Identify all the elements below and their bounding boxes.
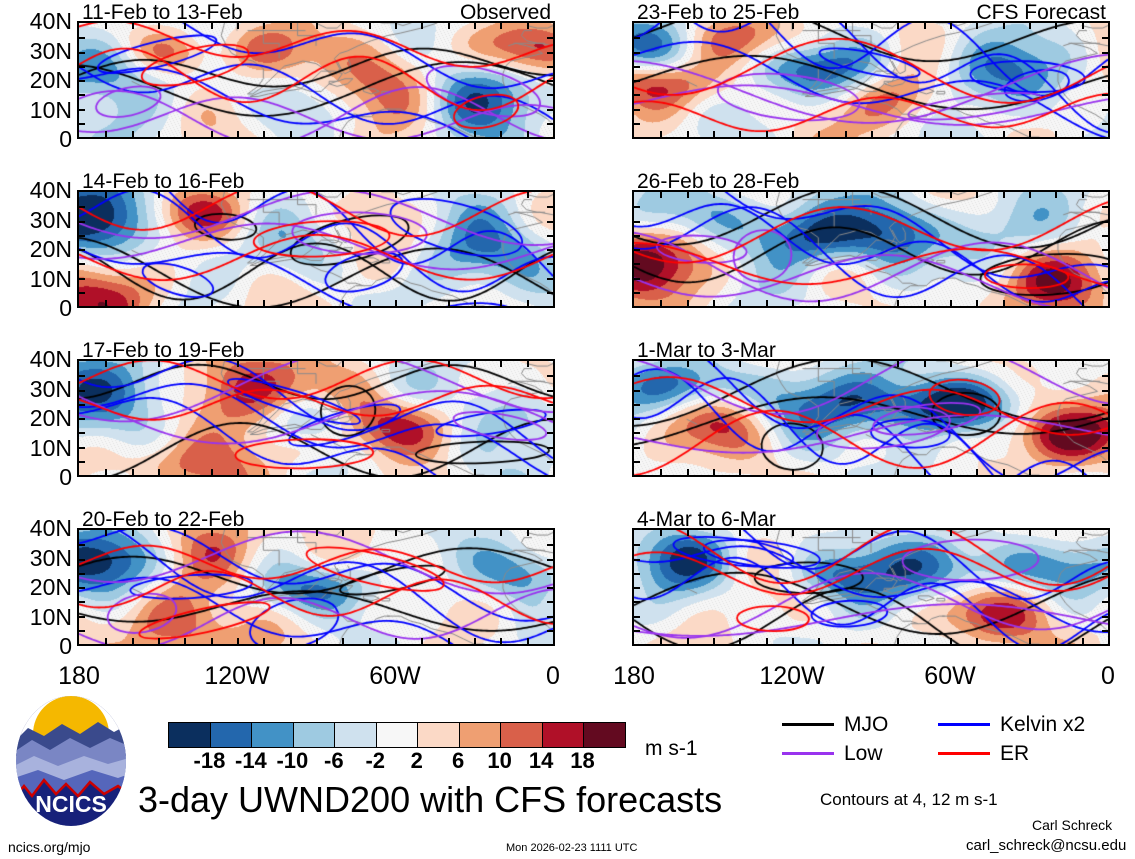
y-tick	[547, 263, 553, 265]
x-tick	[290, 361, 292, 367]
y-tick	[79, 390, 85, 392]
x-tick	[500, 300, 502, 306]
y-tick	[547, 559, 553, 561]
y-tick	[547, 206, 553, 208]
y-tick	[1102, 418, 1108, 420]
x-tick	[237, 192, 239, 198]
x-tick	[792, 300, 794, 306]
colorbar-swatch	[460, 723, 502, 747]
x-tick	[448, 638, 450, 644]
y-tick	[1102, 249, 1108, 251]
x-tick	[1003, 361, 1005, 367]
x-tick	[818, 23, 820, 29]
y-tick	[79, 573, 85, 575]
x-tick	[1029, 300, 1031, 306]
legend-line-swatch	[938, 723, 990, 726]
x-tick	[1082, 469, 1084, 475]
x-tick	[184, 469, 186, 475]
x-tick	[105, 469, 107, 475]
x-tick	[316, 300, 318, 306]
y-tick	[634, 390, 640, 392]
x-tick	[211, 23, 213, 29]
x-tick	[448, 530, 450, 536]
x-tick	[290, 300, 292, 306]
x-tick	[871, 23, 873, 29]
x-tick	[976, 361, 978, 367]
y-tick	[634, 616, 640, 618]
x-tick	[845, 300, 847, 306]
x-tick	[845, 131, 847, 137]
x-tick	[500, 361, 502, 367]
x-tick	[237, 23, 239, 29]
x-tick	[184, 192, 186, 198]
x-tick	[316, 638, 318, 644]
x-tick	[818, 192, 820, 198]
x-tick	[527, 638, 529, 644]
x-tick	[369, 361, 371, 367]
x-tick	[158, 131, 160, 137]
x-tick	[421, 23, 423, 29]
y-tick	[547, 278, 553, 280]
y-tick	[547, 37, 553, 39]
logo-text: NCICS	[35, 791, 107, 817]
x-tick	[184, 300, 186, 306]
x-tick	[766, 638, 768, 644]
x-tick	[1003, 638, 1005, 644]
y-tick	[634, 66, 640, 68]
x-tick	[1029, 23, 1031, 29]
x-tick	[316, 361, 318, 367]
colorbar-swatch	[418, 723, 460, 747]
x-tick	[263, 23, 265, 29]
x-tick	[132, 638, 134, 644]
panel-title: 4-Mar to 6-Mar	[637, 509, 776, 530]
x-tick	[950, 361, 952, 367]
x-tick	[976, 638, 978, 644]
y-tick	[634, 432, 640, 434]
x-tick	[184, 361, 186, 367]
x-tick	[1055, 638, 1057, 644]
x-tick	[766, 469, 768, 475]
x-tick	[105, 361, 107, 367]
x-tick	[976, 300, 978, 306]
y-tick	[547, 418, 553, 420]
x-tick	[924, 300, 926, 306]
x-tick	[158, 361, 160, 367]
y-tick	[547, 573, 553, 575]
x-tick	[132, 131, 134, 137]
y-tick	[79, 206, 85, 208]
y-axis-label: 30N	[0, 40, 72, 63]
y-tick	[1102, 109, 1108, 111]
x-tick	[924, 361, 926, 367]
y-tick	[547, 375, 553, 377]
x-tick	[818, 131, 820, 137]
y-tick	[547, 587, 553, 589]
x-tick	[660, 192, 662, 198]
y-tick	[79, 601, 85, 603]
y-tick	[634, 235, 640, 237]
y-tick	[634, 601, 640, 603]
x-tick	[660, 131, 662, 137]
legend-label: ER	[1000, 743, 1029, 764]
legend-line-swatch	[782, 752, 834, 755]
y-tick	[1102, 235, 1108, 237]
x-tick	[237, 131, 239, 137]
x-tick	[976, 469, 978, 475]
x-tick	[792, 361, 794, 367]
y-tick	[634, 573, 640, 575]
y-tick	[79, 235, 85, 237]
x-tick	[211, 638, 213, 644]
y-tick	[1102, 221, 1108, 223]
colorbar-swatch	[335, 723, 377, 747]
x-tick	[1082, 131, 1084, 137]
x-tick	[792, 131, 794, 137]
y-tick	[547, 544, 553, 546]
x-axis-label: 60W	[355, 664, 435, 689]
y-tick	[547, 52, 553, 54]
y-tick	[634, 37, 640, 39]
y-tick	[547, 109, 553, 111]
x-tick	[448, 300, 450, 306]
y-tick	[547, 390, 553, 392]
x-axis-label: 0	[1068, 664, 1135, 689]
x-tick	[1082, 530, 1084, 536]
x-tick	[448, 469, 450, 475]
x-tick	[897, 300, 899, 306]
x-tick	[474, 638, 476, 644]
x-tick	[845, 192, 847, 198]
x-tick	[950, 638, 952, 644]
y-tick	[1102, 544, 1108, 546]
x-tick	[527, 131, 529, 137]
x-tick	[421, 638, 423, 644]
x-tick	[687, 469, 689, 475]
y-tick	[634, 94, 640, 96]
map-panel	[77, 190, 555, 308]
x-axis-label: 60W	[910, 664, 990, 689]
y-tick	[79, 447, 85, 449]
colorbar-swatch	[169, 723, 211, 747]
x-tick	[950, 469, 952, 475]
x-tick	[713, 300, 715, 306]
x-tick	[263, 192, 265, 198]
y-axis-label: 0	[0, 466, 72, 489]
y-tick	[79, 544, 85, 546]
y-tick	[1102, 52, 1108, 54]
y-axis-label: 30N	[0, 209, 72, 232]
x-tick	[263, 361, 265, 367]
x-tick	[792, 530, 794, 536]
panel-title: 26-Feb to 28-Feb	[637, 171, 799, 192]
y-tick	[1102, 461, 1108, 463]
colorbar-swatch	[211, 723, 253, 747]
x-tick	[421, 361, 423, 367]
x-tick	[897, 361, 899, 367]
y-tick	[79, 404, 85, 406]
x-tick	[713, 530, 715, 536]
x-tick	[1003, 131, 1005, 137]
map-panel	[77, 528, 555, 646]
map-field	[79, 23, 553, 137]
x-tick	[158, 23, 160, 29]
y-axis-label: 0	[0, 635, 72, 658]
x-tick	[660, 23, 662, 29]
x-tick	[342, 638, 344, 644]
y-tick	[547, 123, 553, 125]
y-tick	[634, 447, 640, 449]
x-tick	[211, 192, 213, 198]
colorbar-swatch	[294, 723, 336, 747]
y-tick	[634, 587, 640, 589]
x-tick	[316, 192, 318, 198]
y-tick	[79, 375, 85, 377]
x-tick	[818, 469, 820, 475]
y-tick	[79, 221, 85, 223]
y-tick	[1102, 616, 1108, 618]
x-tick	[342, 192, 344, 198]
x-tick	[500, 131, 502, 137]
y-tick	[547, 447, 553, 449]
colorbar-units-label: m s-1	[645, 738, 698, 759]
x-tick	[421, 300, 423, 306]
panel-title: 17-Feb to 19-Feb	[82, 340, 244, 361]
y-tick	[1102, 432, 1108, 434]
x-tick	[766, 131, 768, 137]
x-tick	[845, 638, 847, 644]
y-tick	[1102, 630, 1108, 632]
x-tick	[766, 23, 768, 29]
y-tick	[79, 432, 85, 434]
x-tick	[237, 638, 239, 644]
x-tick	[897, 23, 899, 29]
x-tick	[687, 131, 689, 137]
x-tick	[1029, 469, 1031, 475]
x-tick	[184, 638, 186, 644]
y-tick	[547, 249, 553, 251]
x-tick	[105, 638, 107, 644]
y-axis-label: 30N	[0, 547, 72, 570]
x-tick	[950, 192, 952, 198]
y-axis-label: 20N	[0, 238, 72, 261]
y-tick	[634, 249, 640, 251]
x-tick	[687, 23, 689, 29]
y-tick	[1102, 80, 1108, 82]
x-tick	[792, 638, 794, 644]
map-field	[79, 192, 553, 306]
x-tick	[871, 192, 873, 198]
x-tick	[1082, 192, 1084, 198]
x-tick	[132, 300, 134, 306]
x-tick	[739, 530, 741, 536]
x-tick	[713, 638, 715, 644]
x-tick	[395, 530, 397, 536]
y-tick	[547, 432, 553, 434]
y-tick	[1102, 66, 1108, 68]
y-tick	[547, 80, 553, 82]
x-tick	[818, 300, 820, 306]
x-tick	[1082, 23, 1084, 29]
x-tick	[713, 192, 715, 198]
x-tick	[237, 300, 239, 306]
map-panel	[77, 21, 555, 139]
x-tick	[474, 361, 476, 367]
x-tick	[184, 23, 186, 29]
x-tick	[687, 361, 689, 367]
x-tick	[527, 361, 529, 367]
x-tick	[342, 469, 344, 475]
y-tick	[634, 559, 640, 561]
legend-label: MJO	[844, 714, 888, 735]
column-header: CFS Forecast	[0, 2, 1106, 23]
x-tick	[369, 131, 371, 137]
x-tick	[474, 131, 476, 137]
y-tick	[1102, 292, 1108, 294]
x-tick	[316, 131, 318, 137]
contour-note: Contours at 4, 12 m s-1	[820, 791, 998, 808]
x-tick	[871, 131, 873, 137]
x-tick	[792, 23, 794, 29]
x-tick	[263, 530, 265, 536]
x-tick	[766, 300, 768, 306]
x-tick	[818, 361, 820, 367]
x-tick	[897, 469, 899, 475]
y-tick	[1102, 123, 1108, 125]
x-tick	[211, 131, 213, 137]
x-tick	[263, 300, 265, 306]
x-tick	[500, 23, 502, 29]
x-tick	[1055, 192, 1057, 198]
x-tick	[316, 530, 318, 536]
map-panel	[632, 190, 1110, 308]
x-tick	[1003, 530, 1005, 536]
x-tick	[845, 23, 847, 29]
x-tick	[500, 192, 502, 198]
x-tick	[1029, 131, 1031, 137]
x-tick	[924, 530, 926, 536]
map-panel	[632, 528, 1110, 646]
x-tick	[1029, 638, 1031, 644]
x-tick	[897, 638, 899, 644]
x-tick	[660, 530, 662, 536]
y-tick	[547, 66, 553, 68]
x-tick	[527, 469, 529, 475]
x-tick	[527, 23, 529, 29]
x-tick	[950, 300, 952, 306]
y-tick	[79, 94, 85, 96]
x-tick	[263, 469, 265, 475]
map-field	[79, 361, 553, 475]
x-tick	[713, 469, 715, 475]
y-tick	[1102, 375, 1108, 377]
y-tick	[1102, 447, 1108, 449]
x-tick	[290, 131, 292, 137]
x-tick	[766, 361, 768, 367]
x-tick	[474, 192, 476, 198]
legend-label: Kelvin x2	[1000, 714, 1085, 735]
x-tick	[158, 192, 160, 198]
x-tick	[660, 361, 662, 367]
y-tick	[79, 587, 85, 589]
x-tick	[474, 300, 476, 306]
y-axis-label: 10N	[0, 437, 72, 460]
x-tick	[527, 530, 529, 536]
x-tick	[369, 638, 371, 644]
y-tick	[634, 52, 640, 54]
y-tick	[1102, 37, 1108, 39]
y-axis-label: 40N	[0, 179, 72, 202]
x-tick	[976, 23, 978, 29]
y-tick	[547, 461, 553, 463]
x-tick	[739, 23, 741, 29]
x-tick	[342, 131, 344, 137]
y-tick	[634, 375, 640, 377]
y-tick	[634, 80, 640, 82]
y-tick	[1102, 263, 1108, 265]
y-tick	[79, 52, 85, 54]
credit-name: Carl Schreck	[1032, 818, 1112, 832]
legend-line-swatch	[782, 723, 834, 726]
y-tick	[1102, 404, 1108, 406]
x-tick	[1055, 361, 1057, 367]
x-axis-label: 120W	[197, 664, 277, 689]
x-tick	[924, 192, 926, 198]
x-tick	[132, 469, 134, 475]
x-tick	[474, 469, 476, 475]
x-tick	[132, 23, 134, 29]
x-tick	[211, 300, 213, 306]
x-tick	[687, 530, 689, 536]
map-field	[79, 530, 553, 644]
y-tick	[79, 292, 85, 294]
y-axis-label: 0	[0, 297, 72, 320]
x-tick	[924, 23, 926, 29]
x-tick	[184, 530, 186, 536]
y-tick	[1102, 278, 1108, 280]
x-tick	[527, 300, 529, 306]
y-tick	[547, 292, 553, 294]
map-field	[634, 192, 1108, 306]
x-tick	[105, 530, 107, 536]
x-tick	[211, 361, 213, 367]
legend-line-swatch	[938, 752, 990, 755]
site-url[interactable]: ncics.org/mjo	[8, 840, 90, 854]
x-tick	[1003, 300, 1005, 306]
y-tick	[634, 206, 640, 208]
panel-title: 14-Feb to 16-Feb	[82, 171, 244, 192]
x-tick	[871, 530, 873, 536]
x-tick	[713, 361, 715, 367]
panel-title: 20-Feb to 22-Feb	[82, 509, 244, 530]
x-tick	[1003, 23, 1005, 29]
y-tick	[79, 80, 85, 82]
x-tick	[818, 530, 820, 536]
x-tick	[448, 23, 450, 29]
x-tick	[448, 192, 450, 198]
map-panel	[632, 359, 1110, 477]
timestamp: Mon 2026-02-23 1111 UTC	[506, 843, 637, 854]
x-tick	[369, 192, 371, 198]
x-tick	[105, 300, 107, 306]
y-tick	[634, 263, 640, 265]
colorbar	[168, 722, 626, 748]
y-tick	[547, 94, 553, 96]
x-tick	[1029, 530, 1031, 536]
x-tick	[792, 192, 794, 198]
y-tick	[634, 544, 640, 546]
x-axis-label: 180	[594, 664, 674, 689]
